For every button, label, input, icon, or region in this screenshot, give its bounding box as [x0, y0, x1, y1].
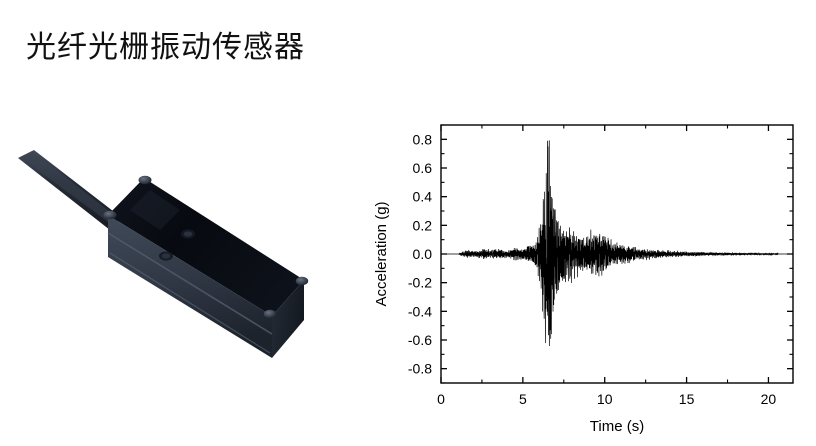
screw-icon	[104, 211, 117, 219]
y-tick-label: 0.4	[413, 189, 433, 205]
port-inner-icon	[162, 253, 170, 258]
y-tick-label: 0.8	[413, 131, 433, 147]
y-tick-label: -0.4	[408, 303, 432, 319]
x-tick-label: 0	[437, 391, 445, 407]
y-axis-title: Acceleration (g)	[373, 201, 390, 306]
x-tick-label: 5	[519, 391, 527, 407]
chart-canvas: 05101520 -0.8-0.6-0.4-0.20.00.20.40.60.8…	[368, 108, 812, 444]
x-tick-labels: 05101520	[437, 391, 776, 407]
y-tick-label: 0.2	[413, 217, 433, 233]
sensor-illustration	[4, 120, 368, 398]
port-inner-icon	[184, 231, 192, 236]
screw-icon	[139, 176, 152, 184]
y-tick-label: -0.6	[408, 332, 432, 348]
cable-highlight	[20, 151, 118, 224]
x-axis-title: Time (s)	[590, 418, 644, 435]
y-tick-label: -0.2	[408, 275, 432, 291]
y-tick-label: 0.6	[413, 160, 433, 176]
acceleration-time-chart: 05101520 -0.8-0.6-0.4-0.20.00.20.40.60.8…	[368, 108, 812, 444]
screw-icon	[296, 277, 308, 285]
y-tick-label: 0.0	[413, 246, 433, 262]
y-tick-label: -0.8	[408, 361, 432, 377]
page-title: 光纤光栅振动传感器	[26, 28, 305, 68]
y-tick-labels: -0.8-0.6-0.4-0.20.00.20.40.60.8	[408, 131, 432, 376]
product-photo	[4, 120, 368, 398]
x-tick-label: 15	[679, 391, 695, 407]
x-tick-label: 20	[761, 391, 777, 407]
x-tick-label: 10	[597, 391, 613, 407]
waveform-trace	[441, 141, 793, 346]
screw-icon	[264, 310, 276, 318]
